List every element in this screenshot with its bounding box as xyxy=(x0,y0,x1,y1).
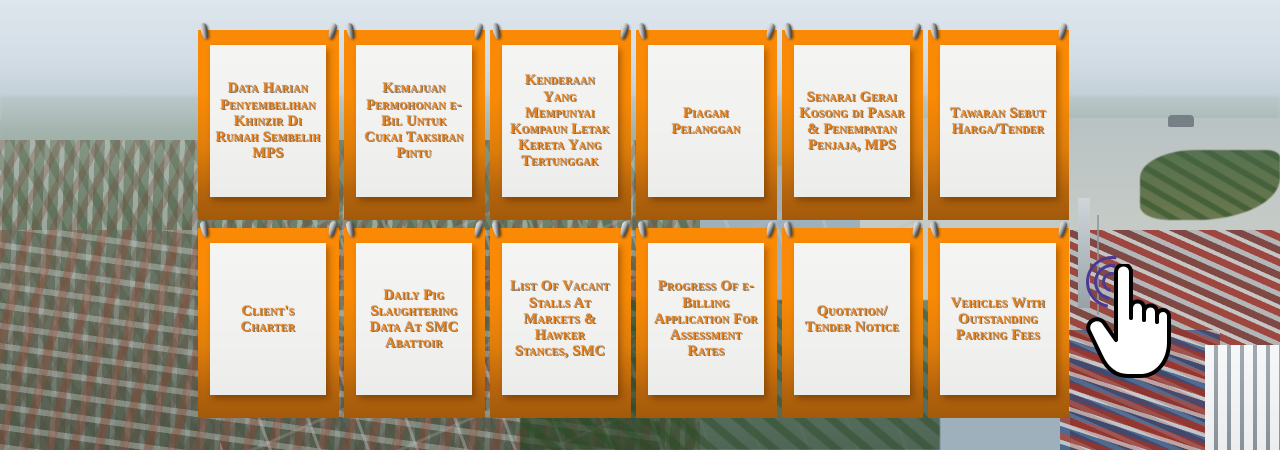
tile-label: Tawaran Sebut Harga/Tender xyxy=(945,105,1051,137)
tile-card: Tawaran Sebut Harga/Tender xyxy=(940,45,1056,197)
tile-card: Quotation/ Tender Notice xyxy=(794,243,910,395)
tile-label: Kenderaan Yang Mempunyai Kompaun Letak K… xyxy=(507,72,613,169)
screen: Data Harian Penyembelihan Khinzir Di Rum… xyxy=(0,0,1280,450)
tile-label: List Of Vacant Stalls At Markets & Hawke… xyxy=(507,278,613,359)
paper-clip-icon xyxy=(199,220,210,237)
tile-label: Data Harian Penyembelihan Khinzir Di Rum… xyxy=(215,80,321,161)
tile-clients-charter[interactable]: Client's Charter xyxy=(198,228,339,418)
tile-label: Piagam Pelanggan xyxy=(653,105,759,137)
tile-card: Piagam Pelanggan xyxy=(648,45,764,197)
tile-vehicles-with-outstanding-parking-fees[interactable]: Vehicles With Outstanding Parking Fees xyxy=(928,228,1069,418)
tile-card: Kenderaan Yang Mempunyai Kompaun Letak K… xyxy=(502,45,618,197)
tile-list-of-vacant-stalls[interactable]: List Of Vacant Stalls At Markets & Hawke… xyxy=(490,228,631,418)
tile-row-top: Data Harian Penyembelihan Khinzir Di Rum… xyxy=(198,30,1079,220)
tile-label: Vehicles With Outstanding Parking Fees xyxy=(945,295,1051,344)
tile-progress-of-ebilling-application[interactable]: Progress Of e-Billing Application For As… xyxy=(636,228,777,418)
paper-clip-icon xyxy=(637,220,648,237)
paper-clip-icon xyxy=(929,220,940,237)
tile-label: Quotation/ Tender Notice xyxy=(799,303,905,335)
paper-clip-icon xyxy=(911,220,922,237)
tile-grid: Data Harian Penyembelihan Khinzir Di Rum… xyxy=(198,30,1079,418)
tile-kenderaan-kompaun-letak-kereta[interactable]: Kenderaan Yang Mempunyai Kompaun Letak K… xyxy=(490,30,631,220)
tile-tawaran-sebut-harga-tender[interactable]: Tawaran Sebut Harga/Tender xyxy=(928,30,1069,220)
tile-card: Progress Of e-Billing Application For As… xyxy=(648,243,764,395)
tile-kemajuan-permohonan-ebil[interactable]: Kemajuan Permohonan e-Bil Untuk Cukai Ta… xyxy=(344,30,485,220)
tile-card: Data Harian Penyembelihan Khinzir Di Rum… xyxy=(210,45,326,197)
tile-label: Progress Of e-Billing Application For As… xyxy=(653,278,759,359)
tile-card: Senarai Gerai Kosong di Pasar & Penempat… xyxy=(794,45,910,197)
paper-clip-icon xyxy=(1057,220,1068,237)
tile-card: List Of Vacant Stalls At Markets & Hawke… xyxy=(502,243,618,395)
tile-piagam-pelanggan[interactable]: Piagam Pelanggan xyxy=(636,30,777,220)
tile-card: Kemajuan Permohonan e-Bil Untuk Cukai Ta… xyxy=(356,45,472,197)
tile-card: Vehicles With Outstanding Parking Fees xyxy=(940,243,1056,395)
tile-card: Client's Charter xyxy=(210,243,326,395)
paper-clip-icon xyxy=(619,220,630,237)
paper-clip-icon xyxy=(345,220,356,237)
paper-clip-icon xyxy=(491,220,502,237)
paper-clip-icon xyxy=(473,220,484,237)
tile-data-harian-penyembelihan[interactable]: Data Harian Penyembelihan Khinzir Di Rum… xyxy=(198,30,339,220)
paper-clip-icon xyxy=(783,220,794,237)
tile-card: Daily Pig Slaughtering Data At SMC Abatt… xyxy=(356,243,472,395)
tile-label: Senarai Gerai Kosong di Pasar & Penempat… xyxy=(799,89,905,154)
tile-daily-pig-slaughtering-data[interactable]: Daily Pig Slaughtering Data At SMC Abatt… xyxy=(344,228,485,418)
tile-quotation-tender-notice[interactable]: Quotation/ Tender Notice xyxy=(782,228,923,418)
tile-label: Daily Pig Slaughtering Data At SMC Abatt… xyxy=(361,287,467,352)
tile-row-bottom: Client's Charter Daily Pig Slaughtering … xyxy=(198,228,1079,418)
paper-clip-icon xyxy=(327,220,338,237)
tile-label: Client's Charter xyxy=(215,303,321,335)
tile-label: Kemajuan Permohonan e-Bil Untuk Cukai Ta… xyxy=(361,80,467,161)
paper-clip-icon xyxy=(765,220,776,237)
tile-senarai-gerai-kosong[interactable]: Senarai Gerai Kosong di Pasar & Penempat… xyxy=(782,30,923,220)
